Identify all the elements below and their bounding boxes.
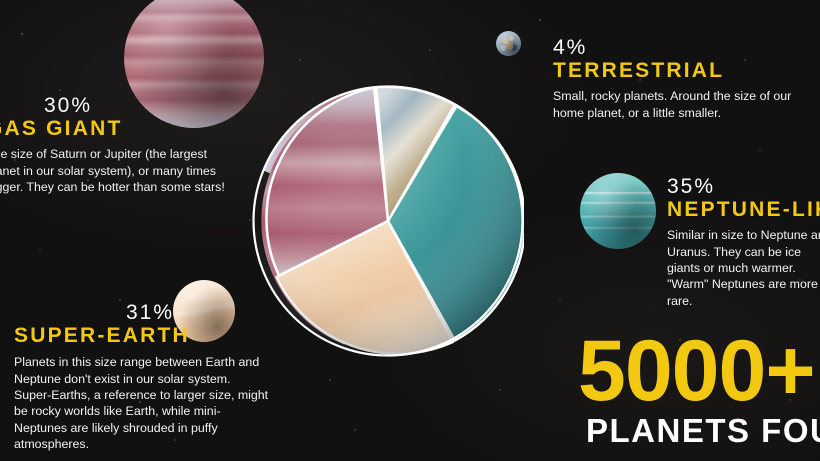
terrestrial-description: Small, rocky planets. Around the size of…: [553, 88, 815, 121]
infographic-canvas: 30% GAS GIANT The size of Saturn or Jupi…: [0, 0, 820, 461]
gas-giant-percent: 30%: [0, 94, 236, 117]
terrestrial-label: TERRESTRIAL: [553, 59, 815, 83]
planets-found-count: 5000+: [578, 332, 815, 411]
callout-super-earth: 31% SUPER-EARTH Planets in this size ran…: [14, 301, 270, 452]
super-earth-label: SUPER-EARTH: [14, 324, 270, 348]
callout-neptune-like: 35% NEPTUNE-LIKE Similar in size to Nept…: [667, 175, 820, 309]
planets-found-subtitle: PLANETS FOUND: [586, 414, 820, 447]
neptune-label: NEPTUNE-LIKE: [667, 198, 820, 222]
super-earth-percent: 31%: [14, 301, 270, 324]
gas-giant-description: The size of Saturn or Jupiter (the large…: [0, 146, 236, 195]
terrestrial-planet-icon: [496, 31, 521, 56]
pie-shading-overlay: [254, 87, 522, 355]
gas-giant-label: GAS GIANT: [0, 117, 236, 141]
exoplanet-pie-chart: [252, 85, 524, 357]
super-earth-description: Planets in this size range between Earth…: [14, 354, 270, 452]
callout-terrestrial: 4% TERRESTRIAL Small, rocky planets. Aro…: [553, 36, 815, 121]
neptune-description: Similar in size to Neptune and Uranus. T…: [667, 227, 820, 309]
terrestrial-percent: 4%: [553, 36, 815, 59]
callout-gas-giant: 30% GAS GIANT The size of Saturn or Jupi…: [0, 94, 236, 195]
neptune-planet-icon: [580, 173, 656, 249]
neptune-percent: 35%: [667, 175, 820, 198]
